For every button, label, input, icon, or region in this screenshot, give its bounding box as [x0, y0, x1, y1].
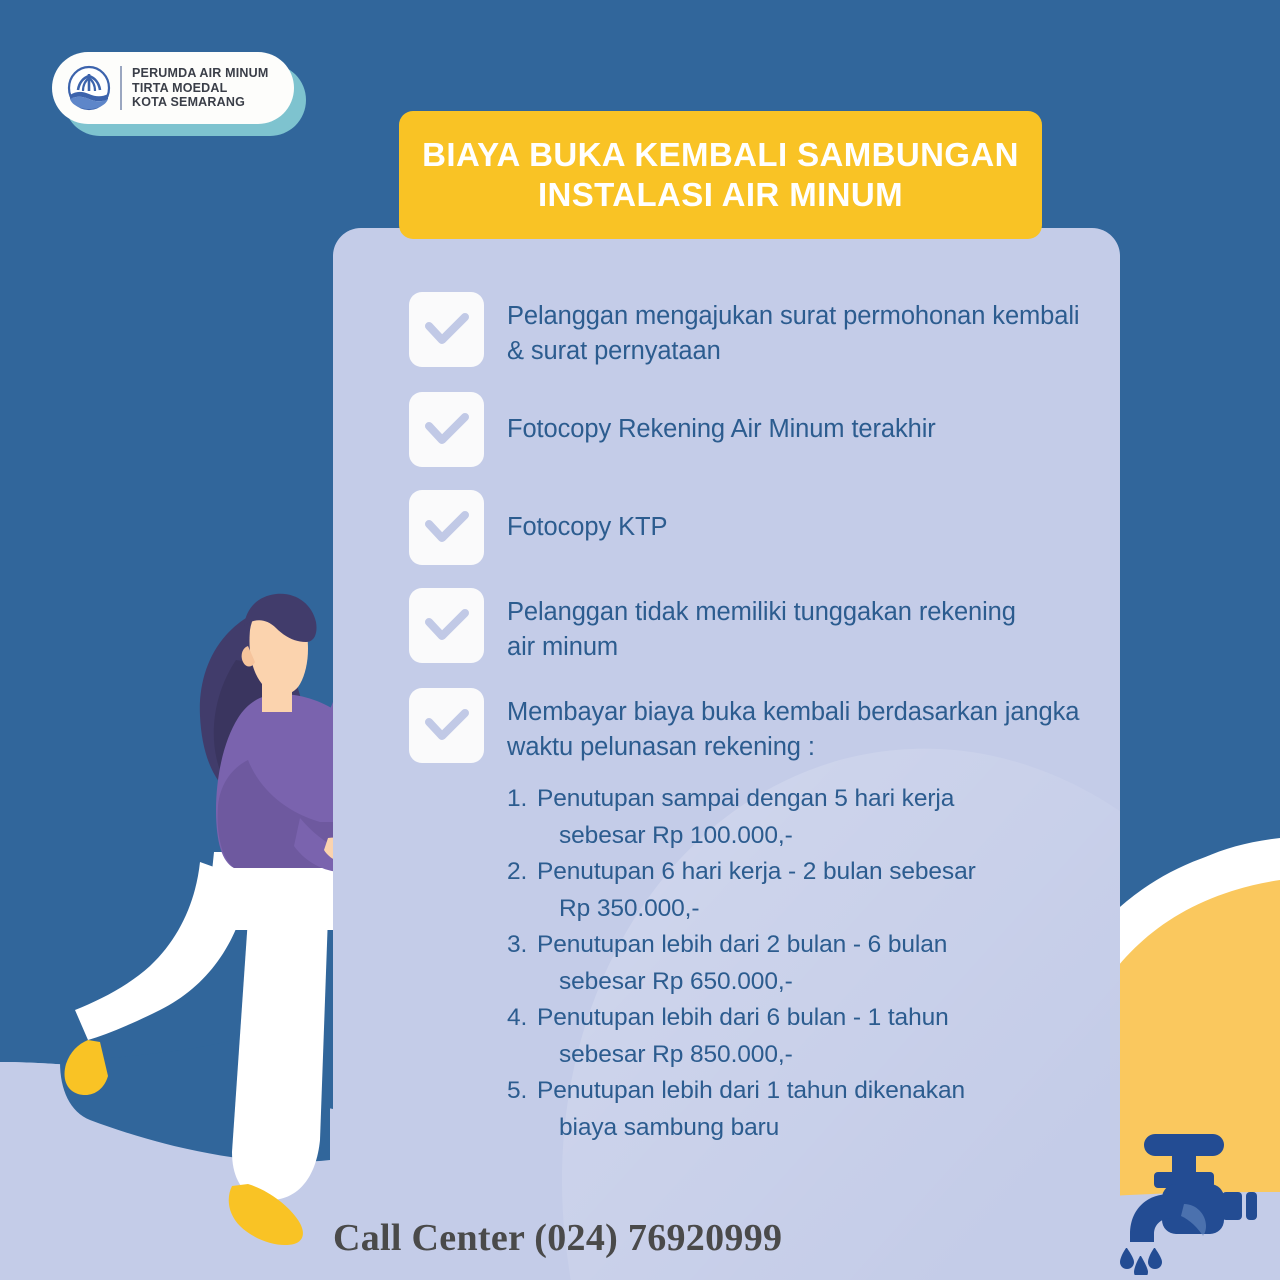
call-center-text: Call Center (024) 76920999 [333, 1216, 853, 1260]
fee-list-item: 2. Penutupan 6 hari kerja - 2 bulan sebe… [507, 854, 1109, 927]
checkbox [409, 688, 484, 763]
fee-list-item: 3. Penutupan lebih dari 2 bulan - 6 bula… [507, 927, 1109, 1000]
fee-item-line-1: Penutupan lebih dari 6 bulan - 1 tahun [537, 1004, 949, 1031]
logo-line-3: KOTA SEMARANG [132, 95, 269, 110]
fee-item-line-1: Penutupan lebih dari 2 bulan - 6 bulan [537, 931, 947, 958]
fee-list-item: 1. Penutupan sampai dengan 5 hari kerja … [507, 781, 1109, 854]
fee-item-number: 2. [507, 854, 537, 927]
fee-item-line-2: sebesar Rp 100.000,- [537, 818, 1109, 855]
page-title-line-2: INSTALASI AIR MINUM [538, 175, 903, 215]
fee-item-number: 3. [507, 927, 537, 1000]
requirements-checklist: Pelanggan mengajukan surat permohonan ke… [409, 292, 1109, 1146]
fee-schedule-list: 1. Penutupan sampai dengan 5 hari kerja … [507, 781, 1109, 1146]
checkmark-icon [425, 313, 469, 347]
water-fountain-emblem [66, 65, 112, 111]
checkbox [409, 490, 484, 565]
water-faucet-icon [1110, 1130, 1260, 1280]
title-banner: BIAYA BUKA KEMBALI SAMBUNGAN INSTALASI A… [399, 111, 1042, 239]
logo-text: PERUMDA AIR MINUM TIRTA MOEDAL KOTA SEMA… [132, 66, 269, 110]
fee-item-number: 4. [507, 1000, 537, 1073]
fee-item-line-1: Penutupan 6 hari kerja - 2 bulan sebesar [537, 858, 976, 885]
checklist-item: Pelanggan mengajukan surat permohonan ke… [409, 292, 1109, 369]
checklist-item-label: Pelanggan mengajukan surat permohonan ke… [507, 292, 1082, 369]
fee-item-line-1: Penutupan sampai dengan 5 hari kerja [537, 785, 954, 812]
checklist-item-label: Pelanggan tidak memiliki tunggakan reken… [507, 588, 1047, 665]
logo-badge: PERUMDA AIR MINUM TIRTA MOEDAL KOTA SEMA… [52, 52, 294, 124]
checkbox [409, 292, 484, 367]
checklist-item-label: Fotocopy KTP [507, 490, 667, 545]
checklist-item-label: Fotocopy Rekening Air Minum terakhir [507, 392, 936, 447]
fee-item-line-2: biaya sambung baru [537, 1110, 1109, 1147]
fee-list-item: 5. Penutupan lebih dari 1 tahun dikenaka… [507, 1073, 1109, 1146]
logo-divider [120, 66, 122, 110]
checklist-item: Membayar biaya buka kembali berdasarkan … [409, 688, 1109, 765]
checklist-item: Fotocopy KTP [409, 490, 1109, 565]
checkmark-icon [425, 609, 469, 643]
checklist-item: Fotocopy Rekening Air Minum terakhir [409, 392, 1109, 467]
checkbox [409, 588, 484, 663]
checkbox [409, 392, 484, 467]
fee-item-line-2: Rp 350.000,- [537, 891, 1109, 928]
page-title-line-1: BIAYA BUKA KEMBALI SAMBUNGAN [422, 135, 1019, 175]
checkmark-icon [425, 709, 469, 743]
checklist-item: Pelanggan tidak memiliki tunggakan reken… [409, 588, 1109, 665]
logo-line-2: TIRTA MOEDAL [132, 81, 269, 96]
fee-item-number: 1. [507, 781, 537, 854]
fee-item-line-1: Penutupan lebih dari 1 tahun dikenakan [537, 1077, 965, 1104]
shoe-back [65, 1040, 109, 1095]
checkmark-icon [425, 413, 469, 447]
fee-item-number: 5. [507, 1073, 537, 1146]
fee-list-item: 4. Penutupan lebih dari 6 bulan - 1 tahu… [507, 1000, 1109, 1073]
checklist-item-label: Membayar biaya buka kembali berdasarkan … [507, 688, 1107, 765]
fee-item-line-2: sebesar Rp 850.000,- [537, 1037, 1109, 1074]
fee-item-line-2: sebesar Rp 650.000,- [537, 964, 1109, 1001]
logo-line-1: PERUMDA AIR MINUM [132, 66, 269, 81]
checkmark-icon [425, 511, 469, 545]
